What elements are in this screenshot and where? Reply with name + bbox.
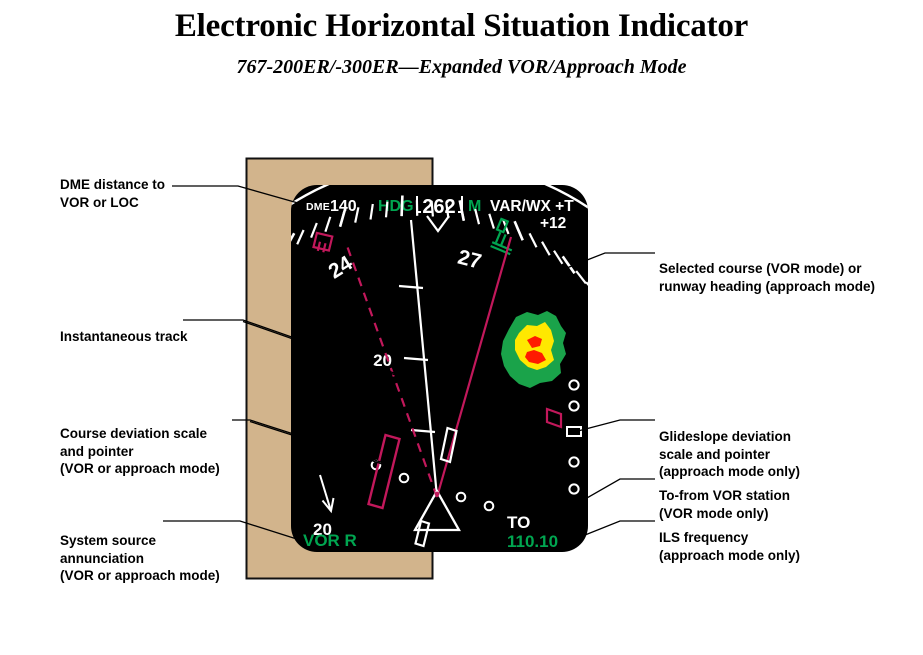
leader-dme-distance xyxy=(172,186,305,205)
callout-ils-frequency-text: ILS frequency (approach mode only) xyxy=(659,530,800,562)
glideslope-deviation-scale xyxy=(547,380,581,493)
cdi-dot xyxy=(400,474,409,483)
leader-to-from xyxy=(545,479,655,522)
callout-course-deviation: Course deviation scale and pointer (VOR … xyxy=(60,408,220,477)
callout-ils-frequency: ILS frequency (approach mode only) xyxy=(659,512,800,564)
heading-line xyxy=(399,220,437,497)
callout-dme-distance: DME distance to VOR or LOC xyxy=(60,159,165,211)
cdi-dot xyxy=(372,461,381,470)
wind-value: 20 xyxy=(313,520,332,539)
wind-indicator xyxy=(320,475,334,511)
compass-arc xyxy=(216,162,658,275)
instrument-bezel xyxy=(247,159,433,579)
leader-selected-course xyxy=(508,253,655,291)
course-line-segment-lower xyxy=(416,521,430,546)
heading-reference: M xyxy=(468,198,481,215)
leader-course-deviation xyxy=(232,420,387,464)
glideslope-dot xyxy=(569,484,578,493)
callout-selected-course-text: Selected course (VOR mode) or runway hea… xyxy=(659,261,875,293)
hdg-label: HDG xyxy=(378,198,414,215)
callout-selected-course: Selected course (VOR mode) or runway hea… xyxy=(659,243,875,295)
wx-red-level xyxy=(525,336,546,364)
course-deviation-indicator xyxy=(369,428,494,546)
glideslope-dot xyxy=(569,380,578,389)
course-line-tip xyxy=(435,492,440,497)
aircraft-symbol xyxy=(415,491,459,530)
system-source-annunciation: VOR R xyxy=(303,531,357,550)
glideslope-center-reference xyxy=(567,427,581,436)
leader-ils-frequency xyxy=(560,521,655,545)
cdi-dot xyxy=(457,493,466,502)
page-title: Electronic Horizontal Situation Indicato… xyxy=(0,8,923,46)
compass-major-ticks xyxy=(232,196,616,318)
cdi-deviation-bar xyxy=(369,435,400,508)
callout-instantaneous-track: Instantaneous track xyxy=(60,311,188,346)
glideslope-dot xyxy=(569,401,578,410)
compass-label-27: 27 xyxy=(455,246,483,274)
compass-ticks xyxy=(232,200,616,318)
callout-course-deviation-text: Course deviation scale and pointer (VOR … xyxy=(60,426,220,476)
callout-instantaneous-track-text: Instantaneous track xyxy=(60,329,188,344)
compass-rose: 24 27 xyxy=(216,162,658,318)
cdi-dot xyxy=(485,502,494,511)
glideslope-dot xyxy=(569,457,578,466)
leader-glideslope xyxy=(578,420,655,431)
leader-instantaneous-track xyxy=(183,320,417,381)
instrument-screen xyxy=(291,185,588,552)
wx-yellow-level xyxy=(515,322,554,370)
callout-system-source: System source annunciation (VOR or appro… xyxy=(60,515,220,584)
wx-green-level xyxy=(501,311,566,388)
title-block: Electronic Horizontal Situation Indicato… xyxy=(0,8,923,79)
course-line-segment-upper xyxy=(441,428,457,462)
page-subtitle: 767-200ER/-300ER—Expanded VOR/Approach M… xyxy=(0,56,923,79)
course-select-bug-green xyxy=(491,219,512,254)
range-ring-label: 20 xyxy=(373,351,392,370)
callout-system-source-text: System source annunciation (VOR or appro… xyxy=(60,533,220,583)
ils-frequency-value: 110.10 xyxy=(507,532,558,551)
to-from-indication: TO xyxy=(507,513,530,532)
heading-value: 262 xyxy=(422,196,455,218)
leader-lines xyxy=(163,186,655,545)
dme-value: 140 xyxy=(330,198,357,215)
mode-annunciation: VAR/WX +T xyxy=(490,198,574,215)
compass-label-24: 24 xyxy=(325,251,357,283)
lubber-line-index xyxy=(427,216,449,231)
dme-label: DME xyxy=(306,201,330,213)
heading-bug-magenta xyxy=(314,233,333,252)
instantaneous-track-line xyxy=(346,243,437,497)
selected-course-line xyxy=(437,237,511,497)
tilt-value: +12 xyxy=(540,215,566,232)
weather-radar-return xyxy=(501,311,566,388)
callout-dme-distance-text: DME distance to VOR or LOC xyxy=(60,177,165,209)
glideslope-pointer xyxy=(547,409,561,427)
heading-box-bracket xyxy=(417,196,462,212)
